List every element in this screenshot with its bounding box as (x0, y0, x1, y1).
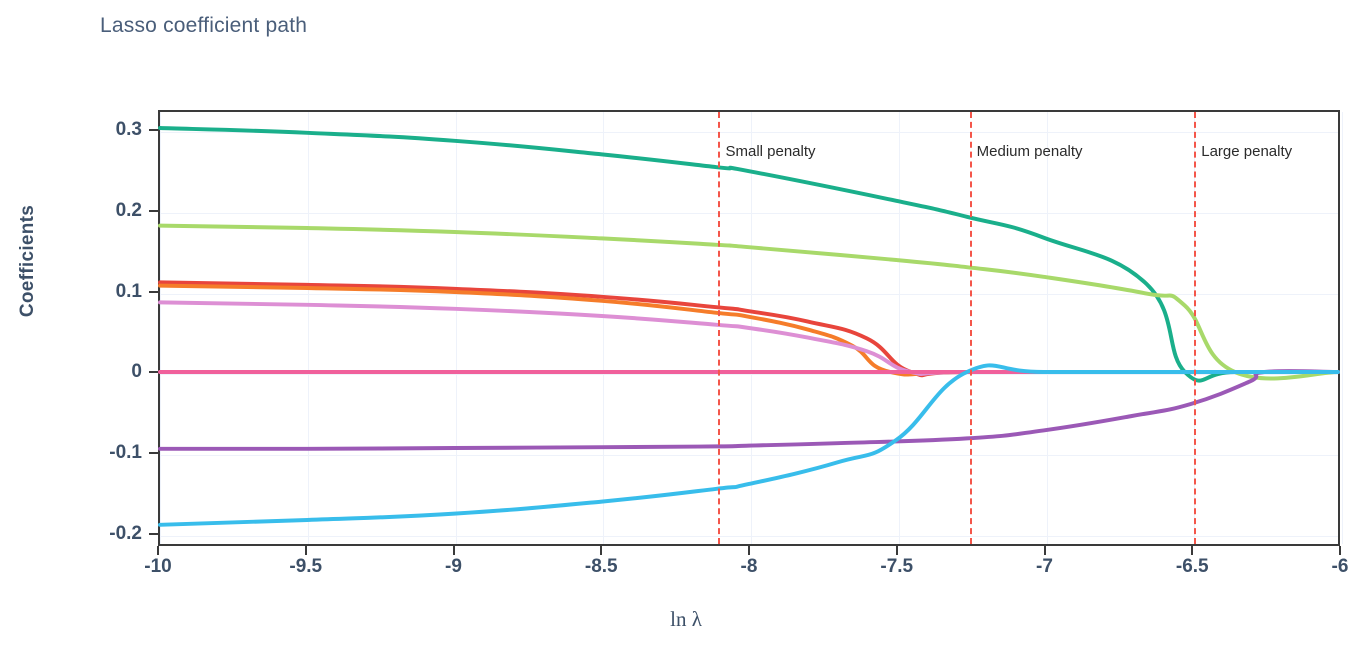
x-tick-label: -7.5 (847, 556, 947, 578)
chart-figure: Lasso coefficient path Coefficients 0.30… (0, 0, 1372, 662)
x-tick-mark (157, 546, 159, 555)
x-tick-label: -6.5 (1142, 556, 1242, 578)
y-tick-mark (149, 452, 158, 454)
x-tick-mark (1044, 546, 1046, 555)
x-tick-mark (1191, 546, 1193, 555)
annotation-label-0: Small penalty (725, 143, 815, 160)
x-tick-label: -10 (108, 556, 208, 578)
annotation-vline-1 (970, 112, 972, 544)
x-tick-mark (600, 546, 602, 555)
annotation-vline-2 (1194, 112, 1196, 544)
y-tick-label: 0.3 (22, 119, 142, 141)
y-tick-mark (149, 129, 158, 131)
x-tick-label: -9 (404, 556, 504, 578)
annotation-label-1: Medium penalty (977, 143, 1083, 160)
series-lines (160, 112, 1338, 544)
y-tick-label: 0.2 (22, 200, 142, 222)
chart-title: Lasso coefficient path (100, 14, 307, 38)
y-tick-label: 0 (22, 361, 142, 383)
y-tick-label: -0.1 (22, 442, 142, 464)
x-tick-mark (305, 546, 307, 555)
y-axis-title: Coefficients (17, 171, 39, 351)
y-tick-label: 0.1 (22, 281, 142, 303)
x-tick-mark (453, 546, 455, 555)
x-axis-title: ln λ (0, 607, 1372, 632)
annotation-vline-0 (718, 112, 720, 544)
x-tick-label: -7 (995, 556, 1095, 578)
gridline-vertical (1342, 112, 1343, 544)
y-tick-mark (149, 210, 158, 212)
annotation-label-2: Large penalty (1201, 143, 1292, 160)
x-tick-label: -9.5 (256, 556, 356, 578)
x-tick-mark (896, 546, 898, 555)
plot-area (158, 110, 1340, 546)
y-tick-label: -0.2 (22, 523, 142, 545)
x-tick-label: -8 (699, 556, 799, 578)
y-tick-mark (149, 533, 158, 535)
series-line-coef-teal (160, 128, 1338, 381)
series-line-coef-purple (160, 371, 1338, 449)
series-line-coef-orange (160, 286, 1338, 375)
x-tick-mark (1339, 546, 1341, 555)
x-tick-label: -6 (1290, 556, 1372, 578)
y-tick-mark (149, 291, 158, 293)
x-tick-mark (748, 546, 750, 555)
y-tick-mark (149, 371, 158, 373)
x-tick-label: -8.5 (551, 556, 651, 578)
